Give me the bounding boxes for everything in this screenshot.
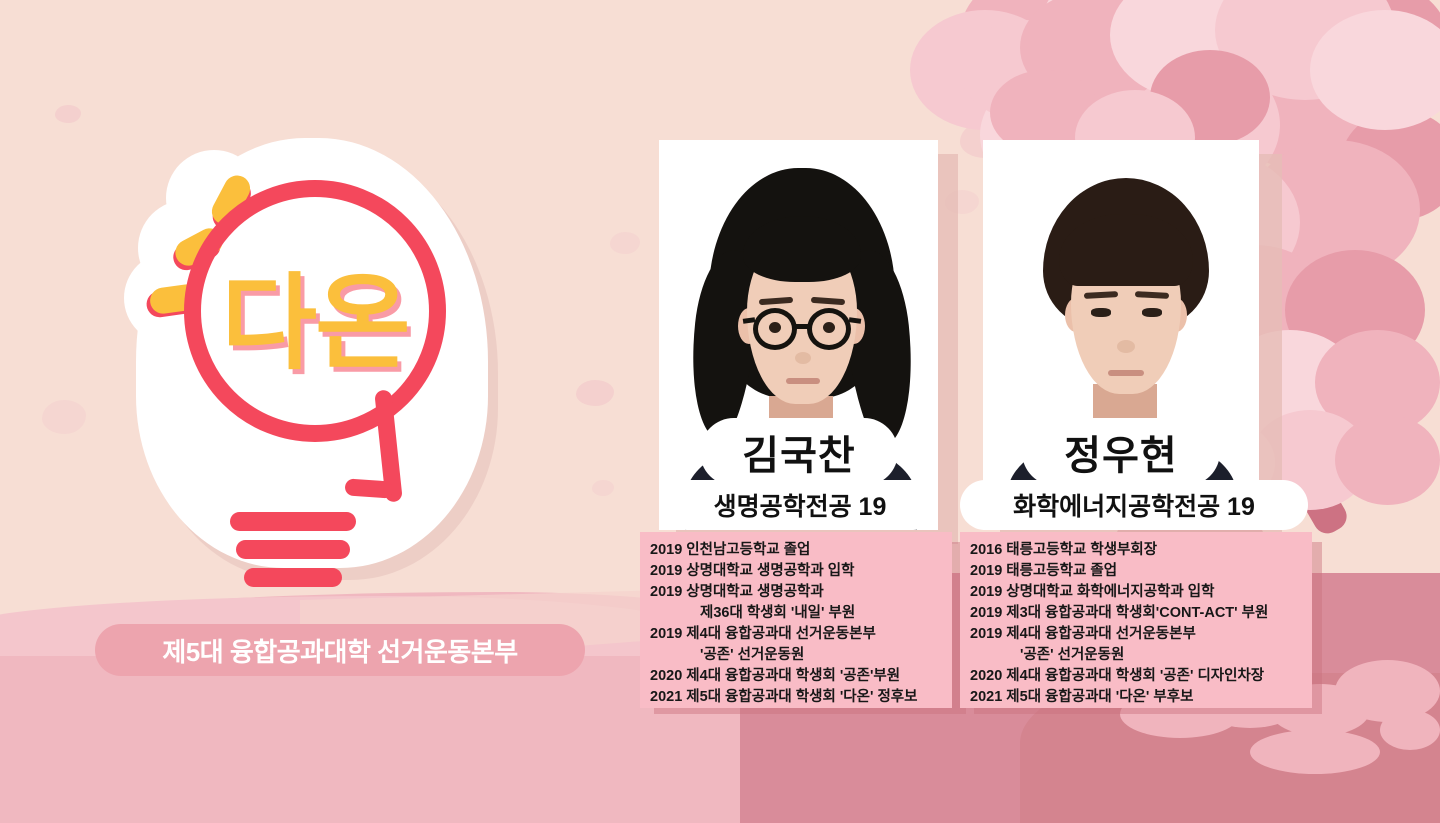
- candidate-2-info-box: 2016 태릉고등학교 학생부회장2019 태릉고등학교 졸업2019 상명대학…: [960, 532, 1312, 708]
- candidate-1-info-box: 2019 인천남고등학교 졸업2019 상명대학교 생명공학과 입학2019 상…: [640, 532, 952, 708]
- history-item: 2019 제4대 융합공과대 선거운동본부: [640, 624, 952, 645]
- candidate-2-name: 정우현: [1064, 423, 1177, 481]
- history-item: 2021 제5대 융합공과대 '다온' 부후보: [960, 687, 1312, 708]
- candidate-1-name: 김국찬: [742, 423, 855, 481]
- history-item: 제36대 학생회 '내일' 부원: [640, 603, 952, 624]
- candidate-1-history-list: 2019 인천남고등학교 졸업2019 상명대학교 생명공학과 입학2019 상…: [640, 540, 952, 708]
- history-item: 2019 상명대학교 화학에너지공학과 입학: [960, 582, 1312, 603]
- history-item: 2020 제4대 융합공과대 학생회 '공존'부원: [640, 666, 952, 687]
- history-item: 2019 제4대 융합공과대 선거운동본부: [960, 624, 1312, 645]
- candidate-card-1: 김국찬 생명공학전공 19 2019 인천남고등학교 졸업2019 상명대학교 …: [640, 130, 970, 730]
- candidate-1-major: 생명공학전공 19: [714, 487, 887, 523]
- logo-base-band-3: [244, 568, 342, 587]
- history-item: 2019 인천남고등학교 졸업: [640, 540, 952, 561]
- history-item: 2019 상명대학교 생명공학과 입학: [640, 561, 952, 582]
- logo-bulb-neck-curve: [344, 478, 393, 498]
- history-item: 2019 제3대 융합공과대 학생회'CONT-ACT' 부원: [960, 603, 1312, 624]
- logo-base-band-1: [230, 512, 356, 531]
- logo-base-band-2: [236, 540, 350, 559]
- history-item: 2019 상명대학교 생명공학과: [640, 582, 952, 603]
- campaign-banner-label: 제5대 융합공과대학 선거운동본부: [162, 632, 517, 669]
- history-item: '공존' 선거운동원: [960, 645, 1312, 666]
- campaign-banner: 제5대 융합공과대학 선거운동본부: [95, 624, 585, 676]
- candidate-1-major-badge: 생명공학전공 19: [662, 480, 938, 530]
- candidate-2-major: 화학에너지공학전공 19: [1013, 487, 1255, 523]
- candidate-2-name-badge: 정우현: [1022, 418, 1220, 486]
- candidate-card-2: 정우현 화학에너지공학전공 19 2016 태릉고등학교 학생부회장2019 태…: [960, 130, 1320, 730]
- history-item: '공존' 선거운동원: [640, 645, 952, 666]
- candidate-2-history-list: 2016 태릉고등학교 학생부회장2019 태릉고등학교 졸업2019 상명대학…: [960, 540, 1312, 708]
- history-item: 2020 제4대 융합공과대 학생회 '공존' 디자인차장: [960, 666, 1312, 687]
- logo-text: 다온: [184, 272, 446, 376]
- lightbulb-logo: 다온: [118, 122, 538, 602]
- candidate-1-name-badge: 김국찬: [700, 418, 898, 486]
- poster-canvas: 다온 제5대 융합공과대학 선거운동본부: [0, 0, 1440, 823]
- history-item: 2021 제5대 융합공과대 학생회 '다온' 정후보: [640, 687, 952, 708]
- candidate-2-major-badge: 화학에너지공학전공 19: [960, 480, 1308, 530]
- history-item: 2016 태릉고등학교 학생부회장: [960, 540, 1312, 561]
- history-item: 2019 태릉고등학교 졸업: [960, 561, 1312, 582]
